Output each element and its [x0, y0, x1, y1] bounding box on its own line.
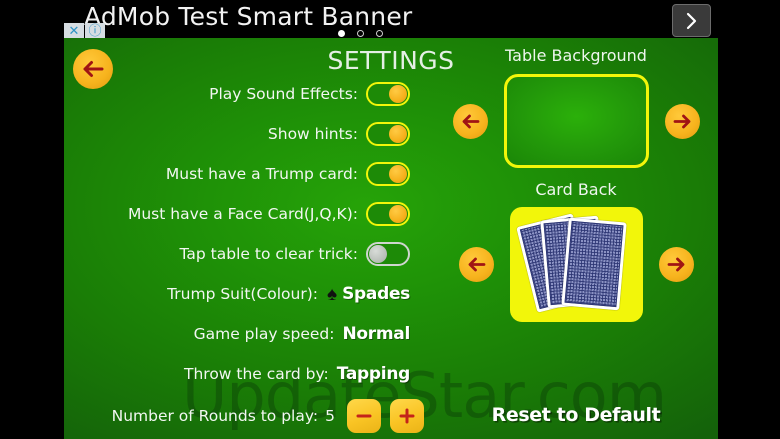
- setting-label: Game play speed:: [194, 325, 335, 343]
- arrow-left-icon: [465, 255, 488, 274]
- toggle-play-sound-effects[interactable]: [366, 82, 410, 106]
- table-background-preview[interactable]: [504, 74, 649, 168]
- minus-icon: [354, 406, 374, 426]
- arrow-right-icon: [671, 112, 694, 131]
- throw-the-card-by-value[interactable]: Tapping: [337, 364, 410, 384]
- trump-suit-value[interactable]: Spades: [342, 284, 410, 304]
- game-settings-screen: UpdateStar.com SETTINGS Play Sound Effec…: [64, 38, 718, 439]
- card-back-image: [561, 218, 626, 311]
- card-back-carousel: [434, 207, 718, 322]
- setting-row-trump-suit[interactable]: Trump Suit(Colour): ♠ Spades: [64, 274, 424, 314]
- toggle-tap-table-to-clear-trick[interactable]: [366, 242, 410, 266]
- ad-next-button[interactable]: [672, 4, 711, 37]
- rounds-increase-button[interactable]: [390, 399, 424, 433]
- setting-label: Tap table to clear trick:: [180, 245, 358, 263]
- setting-label: Show hints:: [268, 125, 358, 143]
- arrow-left-icon: [459, 112, 482, 131]
- card-pattern: [564, 221, 623, 307]
- ad-dot-3[interactable]: [376, 30, 383, 37]
- card-back-prev-button[interactable]: [459, 247, 494, 282]
- toggle-knob: [389, 125, 407, 143]
- app-screenshot: AdMob Test Smart Banner ✕ ⓘ UpdateStar.c…: [0, 0, 780, 439]
- setting-row-show-hints[interactable]: Show hints:: [64, 114, 424, 154]
- table-background-carousel: [434, 74, 718, 168]
- setting-label: Number of Rounds to play:: [112, 407, 319, 425]
- chevron-right-icon: [684, 11, 699, 31]
- table-background-prev-button[interactable]: [453, 104, 488, 139]
- setting-row-play-sound-effects[interactable]: Play Sound Effects:: [64, 74, 424, 114]
- arrow-right-icon: [665, 255, 688, 274]
- setting-row-must-have-trump-card[interactable]: Must have a Trump card:: [64, 154, 424, 194]
- setting-label: Trump Suit(Colour):: [167, 285, 318, 303]
- spade-icon: ♠: [327, 285, 337, 304]
- plus-icon: [397, 406, 417, 426]
- setting-row-throw-the-card-by[interactable]: Throw the card by: Tapping: [64, 354, 424, 394]
- ad-banner: AdMob Test Smart Banner ✕ ⓘ: [0, 0, 780, 38]
- setting-row-game-play-speed[interactable]: Game play speed: Normal: [64, 314, 424, 354]
- ad-page-dots: [338, 30, 383, 37]
- reset-to-default-button[interactable]: Reset to Default: [434, 404, 718, 426]
- previews-column: Table Background Card Back: [434, 46, 718, 439]
- toggle-knob: [389, 165, 407, 183]
- setting-label: Must have a Trump card:: [166, 165, 358, 183]
- setting-label: Throw the card by:: [184, 365, 329, 383]
- card-back-next-button[interactable]: [659, 247, 694, 282]
- toggle-knob: [389, 205, 407, 223]
- toggle-must-have-face-card[interactable]: [366, 202, 410, 226]
- game-play-speed-value[interactable]: Normal: [342, 324, 410, 344]
- rounds-decrease-button[interactable]: [347, 399, 381, 433]
- rounds-stepper: [347, 399, 424, 433]
- toggle-knob: [389, 85, 407, 103]
- table-background-next-button[interactable]: [665, 104, 700, 139]
- ad-dot-1[interactable]: [338, 30, 345, 37]
- card-back-title: Card Back: [434, 180, 718, 199]
- table-background-title: Table Background: [434, 46, 718, 65]
- setting-row-tap-table-to-clear-trick[interactable]: Tap table to clear trick:: [64, 234, 424, 274]
- setting-label: Must have a Face Card(J,Q,K):: [128, 205, 358, 223]
- ad-title: AdMob Test Smart Banner: [84, 2, 412, 31]
- toggle-must-have-trump-card[interactable]: [366, 162, 410, 186]
- setting-row-number-of-rounds: Number of Rounds to play: 5: [64, 394, 424, 438]
- toggle-show-hints[interactable]: [366, 122, 410, 146]
- setting-label: Play Sound Effects:: [209, 85, 358, 103]
- setting-row-must-have-face-card[interactable]: Must have a Face Card(J,Q,K):: [64, 194, 424, 234]
- settings-list: Play Sound Effects: Show hints: Must hav…: [64, 74, 424, 438]
- toggle-knob: [369, 245, 387, 263]
- number-of-rounds-value: 5: [325, 407, 335, 425]
- ad-dot-2[interactable]: [357, 30, 364, 37]
- card-back-preview[interactable]: [510, 207, 643, 322]
